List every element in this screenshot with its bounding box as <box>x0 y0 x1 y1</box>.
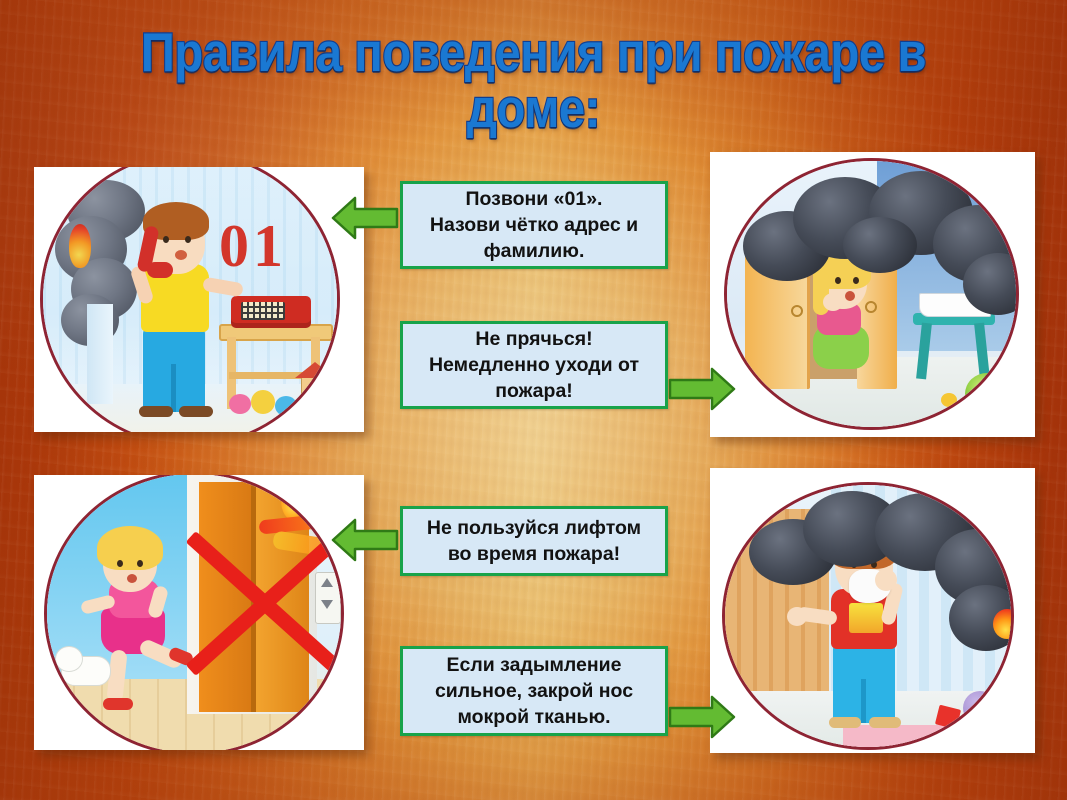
smoke-puff <box>843 217 917 273</box>
shirt-print <box>849 603 883 633</box>
boy-eye <box>185 236 191 243</box>
message-text: Не прячься! Немедленно уходи от пожара! <box>429 326 639 404</box>
message-box-do-not-hide[interactable]: Не прячься! Немедленно уходи от пожара! <box>400 321 668 409</box>
arrow-to-picture-3 <box>331 516 399 564</box>
child-hand <box>875 569 897 591</box>
message-text: Позвони «01». Назови чётко адрес и фамил… <box>430 186 638 264</box>
wardrobe-handle <box>791 305 803 317</box>
scene-boy-calling: 01 <box>43 167 337 432</box>
elevator-door <box>199 482 251 712</box>
arrow-to-picture-4 <box>668 693 736 741</box>
girl-hair <box>97 526 163 570</box>
boy-mouth <box>175 250 187 260</box>
scene-wet-cloth <box>725 485 1011 747</box>
telephone-handset <box>147 262 173 278</box>
toy-ball <box>965 373 1009 415</box>
message-line-1: Не прячься! <box>475 328 592 350</box>
message-line-1: Если задымление <box>447 654 622 676</box>
picture-card-wet-cloth[interactable] <box>710 468 1035 753</box>
telephone-dialpad <box>241 302 285 320</box>
message-box-wet-cloth[interactable]: Если задымление сильное, закрой нос мокр… <box>400 646 668 736</box>
toy-ball <box>275 396 297 416</box>
girl-eye <box>853 277 859 284</box>
scene-no-elevator <box>47 475 341 750</box>
number-01-text: 01 <box>219 212 329 281</box>
message-text: Не пользуйся лифтом во время пожара! <box>427 515 641 567</box>
boy-trouser-split <box>171 364 176 412</box>
toy-duck <box>941 393 957 407</box>
picture-frame-circle <box>724 158 1019 430</box>
child-shoe <box>869 717 901 728</box>
picture-frame-circle <box>44 475 344 750</box>
girl-mouth <box>127 574 137 583</box>
message-line-3: пожара! <box>495 380 573 402</box>
pink-rug <box>843 725 1014 750</box>
flame <box>69 224 91 268</box>
arrow-to-picture-1 <box>331 194 399 242</box>
elevator-down-button-icon <box>321 600 333 609</box>
message-line-1: Не пользуйся лифтом <box>427 517 641 539</box>
girl-eye <box>835 277 841 284</box>
girl-eye <box>117 560 123 567</box>
girl-shoe <box>103 698 133 710</box>
arrow-to-picture-2 <box>668 365 736 413</box>
message-line-2: сильное, закрой нос <box>435 680 633 702</box>
child-hand <box>787 607 807 626</box>
elevator-up-button-icon <box>321 578 333 587</box>
girl-mouth <box>845 291 855 301</box>
flame <box>993 609 1014 639</box>
boy-shoe <box>179 406 213 417</box>
message-line-2: Немедленно уходи от <box>429 354 639 376</box>
scene-girl-hiding <box>727 161 1016 427</box>
toy-house <box>301 376 331 402</box>
curtain <box>87 304 113 404</box>
girl-eye <box>137 560 143 567</box>
dog-head <box>55 646 83 672</box>
wardrobe-handle <box>865 301 877 313</box>
message-line-2: Назови чётко адрес и <box>430 214 638 236</box>
toy-house-roof <box>295 362 335 378</box>
picture-frame-circle <box>722 482 1014 750</box>
picture-card-girl-hiding[interactable] <box>710 152 1035 437</box>
child-trouser-split <box>861 679 866 723</box>
toy-ball <box>251 390 275 414</box>
boy-eye <box>163 236 169 243</box>
girl-hand <box>823 293 843 311</box>
boy-shoe <box>139 406 173 417</box>
picture-card-no-elevator[interactable] <box>34 475 364 750</box>
message-line-1: Позвони «01». <box>465 188 602 210</box>
message-line-2: во время пожара! <box>448 543 620 565</box>
message-line-3: фамилию. <box>484 240 585 262</box>
picture-frame-circle: 01 <box>40 167 340 432</box>
message-text: Если задымление сильное, закрой нос мокр… <box>435 652 633 730</box>
message-box-no-elevator[interactable]: Не пользуйся лифтом во время пожара! <box>400 506 668 576</box>
toy-ball <box>963 691 997 725</box>
picture-card-boy-calling-01[interactable]: 01 <box>34 167 364 432</box>
message-line-3: мокрой тканью. <box>457 706 610 728</box>
toy-ball <box>229 394 251 414</box>
message-box-call-01[interactable]: Позвони «01». Назови чётко адрес и фамил… <box>400 181 668 269</box>
child-shoe <box>829 717 861 728</box>
